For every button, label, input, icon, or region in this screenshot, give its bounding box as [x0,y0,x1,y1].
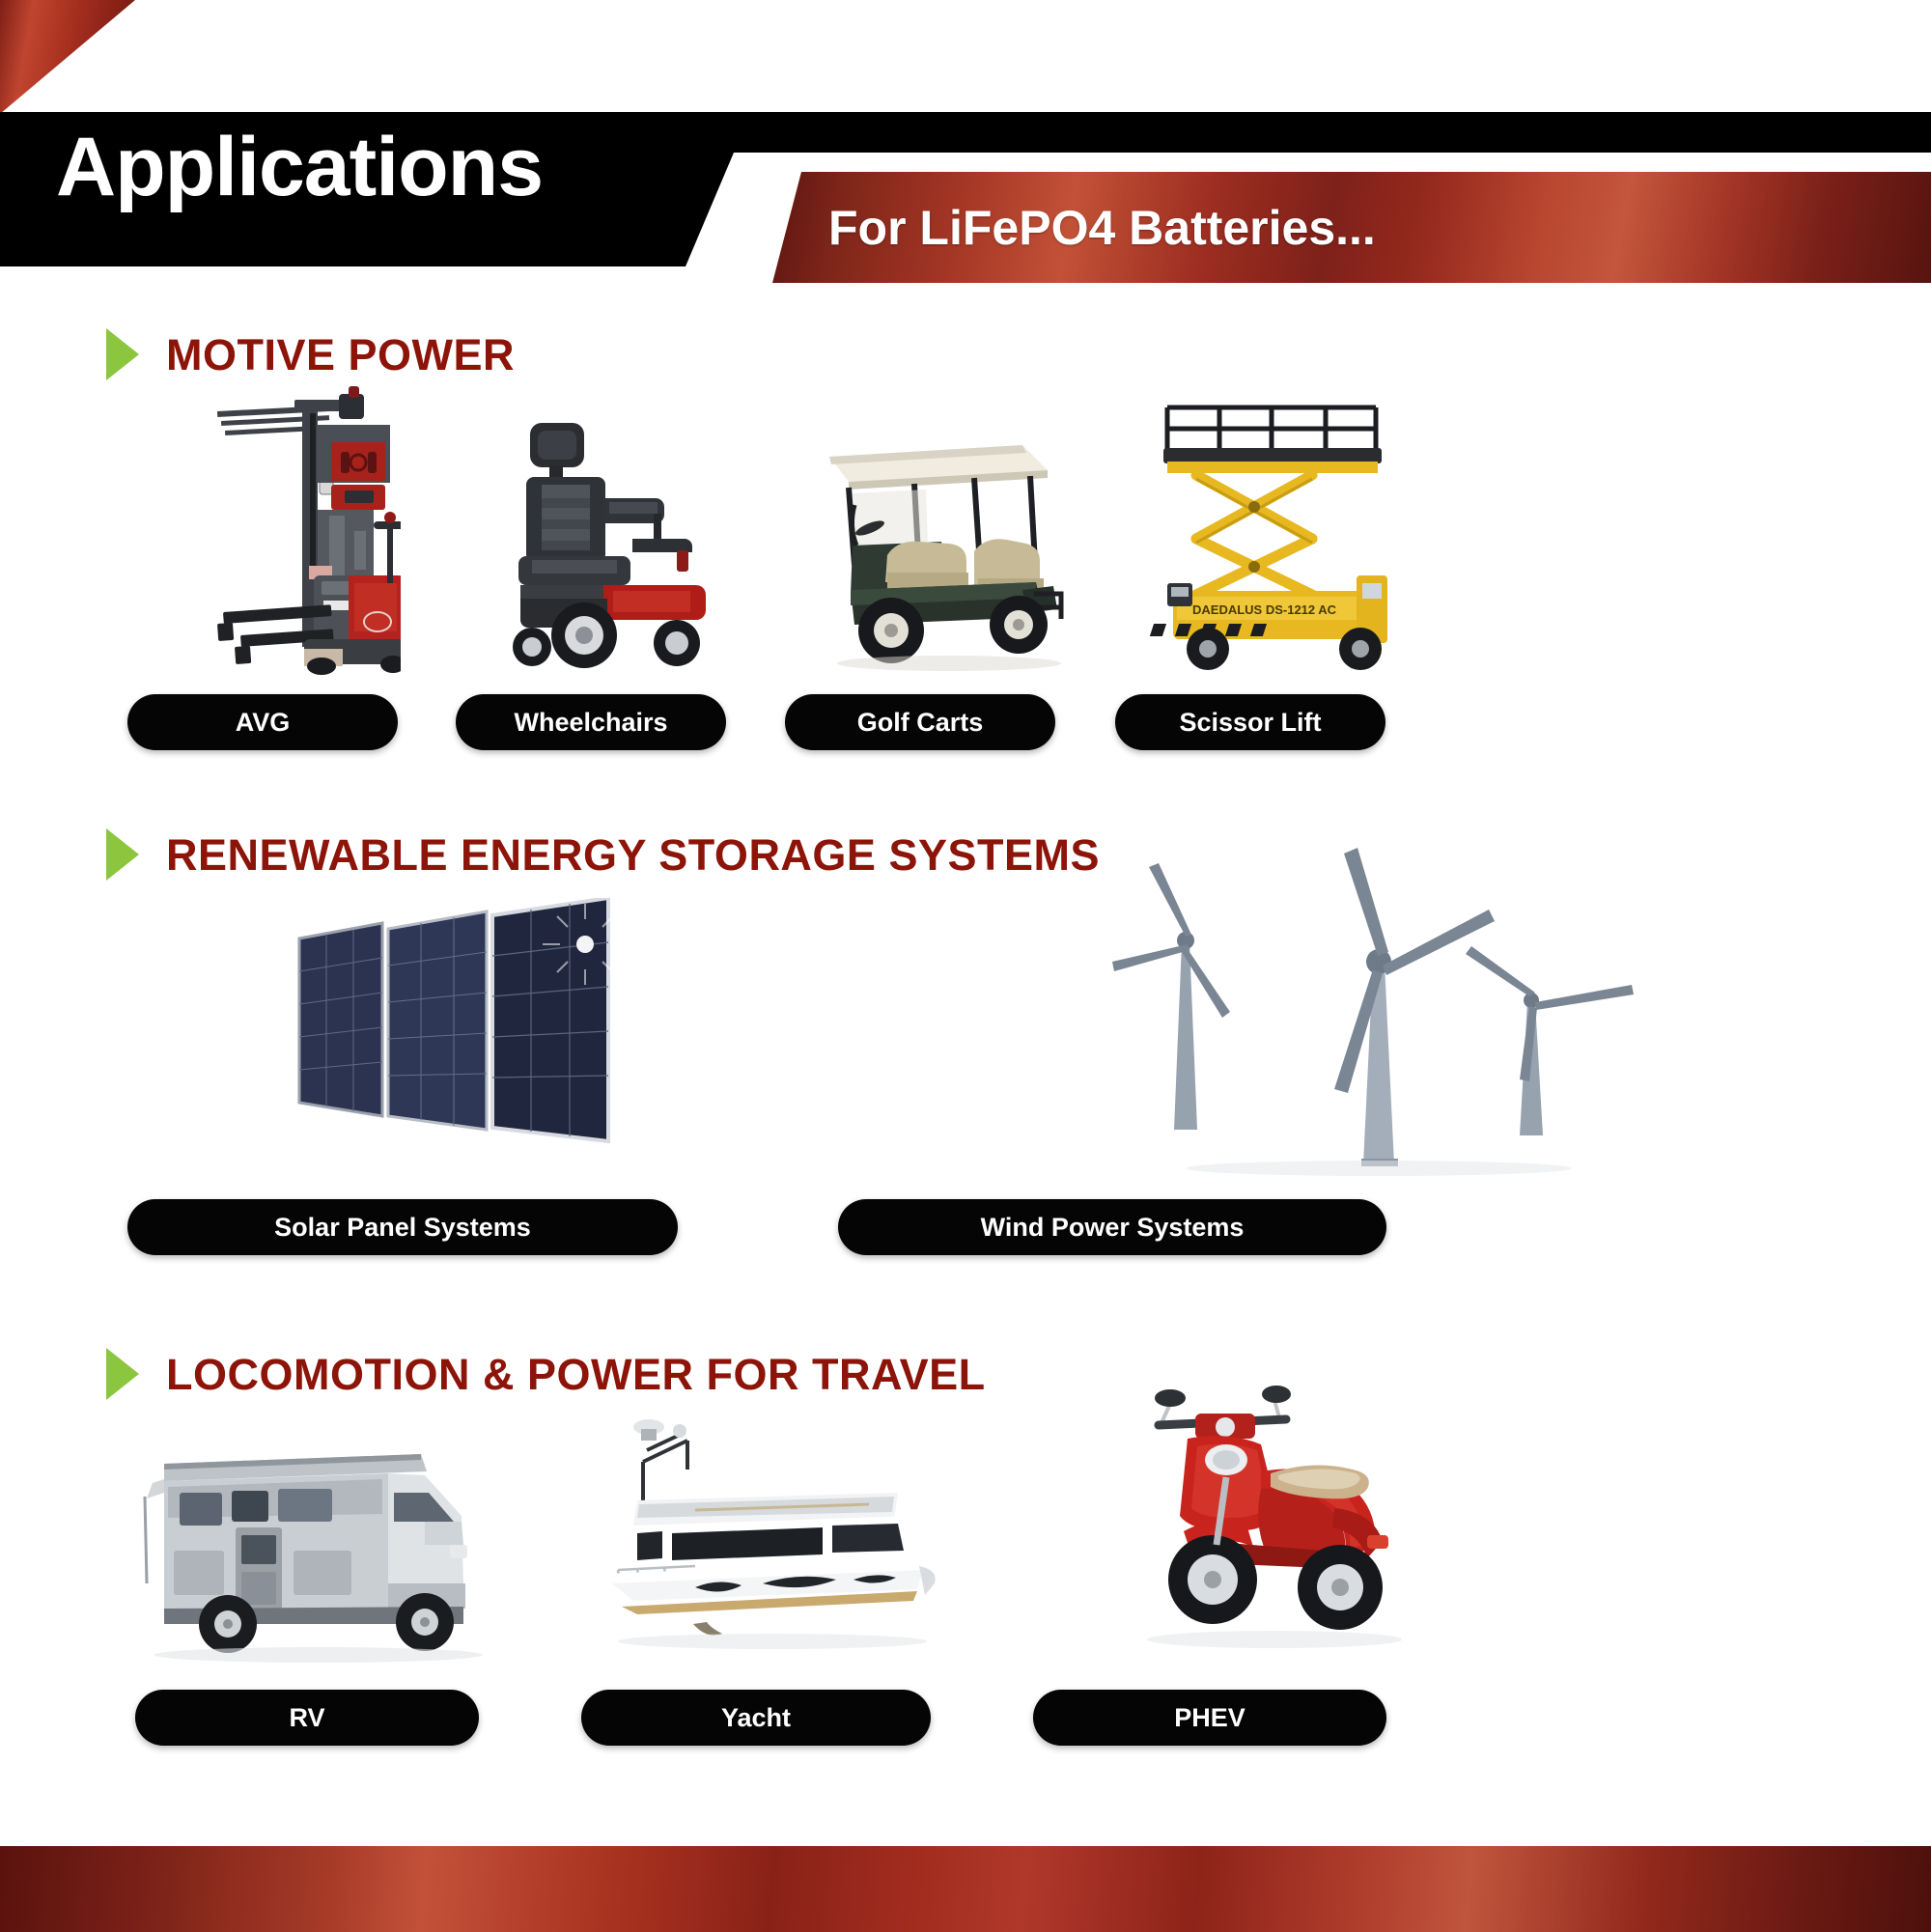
label-pill-golf-carts[interactable]: Golf Carts [785,694,1055,750]
wind-turbines-image [1110,840,1651,1178]
pill-label: Golf Carts [857,708,984,738]
section-header-motive-power: MOTIVE POWER [106,328,515,380]
label-pill-wheelchairs[interactable]: Wheelchairs [456,694,726,750]
green-triangle-icon [106,828,139,881]
section-title-locomotion: LOCOMOTION & POWER FOR TRAVEL [166,1353,986,1396]
green-triangle-icon [106,328,139,380]
pill-label: AVG [236,708,291,738]
label-pill-scissor-lift[interactable]: Scissor Lift [1115,694,1385,750]
footer-red-bar [0,1846,1931,1932]
rv-motorhome-image [135,1400,521,1670]
solar-panel-array-image [290,898,657,1178]
pill-label: Solar Panel Systems [274,1213,531,1243]
label-pill-avg[interactable]: AVG [127,694,398,750]
label-pill-wind-power-systems[interactable]: Wind Power Systems [838,1199,1386,1255]
pill-label: Wind Power Systems [981,1213,1245,1243]
label-pill-yacht[interactable]: Yacht [581,1690,931,1746]
section-title-motive-power: MOTIVE POWER [166,333,515,377]
label-pill-rv[interactable]: RV [135,1690,479,1746]
green-triangle-icon [106,1348,139,1400]
power-wheelchair-image [483,406,734,676]
svg-text:DAEDALUS DS-1212 AC: DAEDALUS DS-1212 AC [1192,602,1337,617]
red-corner-flash-icon [0,0,135,114]
agv-forklift-stacker-image [154,386,406,676]
section-title-renewable: RENEWABLE ENERGY STORAGE SYSTEMS [166,833,1100,877]
pill-label: Yacht [721,1703,791,1733]
section-header-renewable: RENEWABLE ENERGY STORAGE SYSTEMS [106,828,1100,881]
label-pill-solar-panel-systems[interactable]: Solar Panel Systems [127,1199,678,1255]
page-title: Applications [56,126,543,209]
scissor-lift-image: DAEDALUS DS-1212 AC [1139,386,1419,676]
section-header-locomotion: LOCOMOTION & POWER FOR TRAVEL [106,1348,986,1400]
pill-label: Wheelchairs [514,708,667,738]
pill-label: Scissor Lift [1179,708,1321,738]
scooter-phev-image [1081,1371,1410,1670]
pill-label: RV [289,1703,324,1733]
pill-label: PHEV [1174,1703,1245,1733]
page-header: Applications For LiFePO4 Batteries... [0,0,1931,290]
golf-cart-image [792,401,1072,676]
label-pill-phev[interactable]: PHEV [1033,1690,1386,1746]
header-subtitle: For LiFePO4 Batteries... [828,200,1376,256]
yacht-image [579,1400,965,1670]
